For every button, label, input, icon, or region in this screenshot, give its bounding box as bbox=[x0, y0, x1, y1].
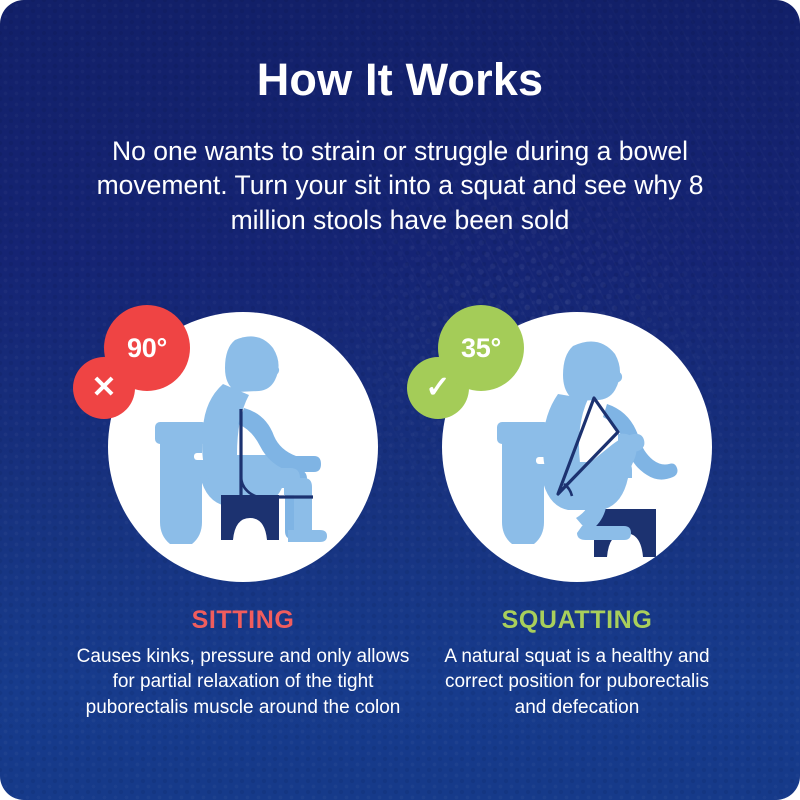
check-glyph: ✓ bbox=[425, 373, 450, 403]
angle-badge-sitting: 90° bbox=[104, 305, 190, 391]
angle-badge-squatting: 35° bbox=[438, 305, 524, 391]
caption-title-squatting: SQUATTING bbox=[407, 606, 747, 635]
caption-body-sitting: Causes kinks, pressure and only allows f… bbox=[73, 644, 413, 720]
caption-title-sitting: SITTING bbox=[73, 606, 413, 635]
page-title: How It Works bbox=[0, 56, 800, 103]
panel-sitting: 90° ✕ SITTING Causes kinks, pressure and… bbox=[73, 300, 413, 770]
panel-squatting: 35° ✓ SQUATTING A natural squat is a hea… bbox=[407, 300, 747, 770]
infographic-card: How It Works No one wants to strain or s… bbox=[0, 0, 800, 800]
cross-glyph: ✕ bbox=[91, 373, 116, 403]
infographic-canvas: How It Works No one wants to strain or s… bbox=[0, 0, 800, 800]
page-subtitle: No one wants to strain or struggle durin… bbox=[62, 134, 738, 237]
caption-body-squatting: A natural squat is a healthy and correct… bbox=[427, 644, 727, 720]
